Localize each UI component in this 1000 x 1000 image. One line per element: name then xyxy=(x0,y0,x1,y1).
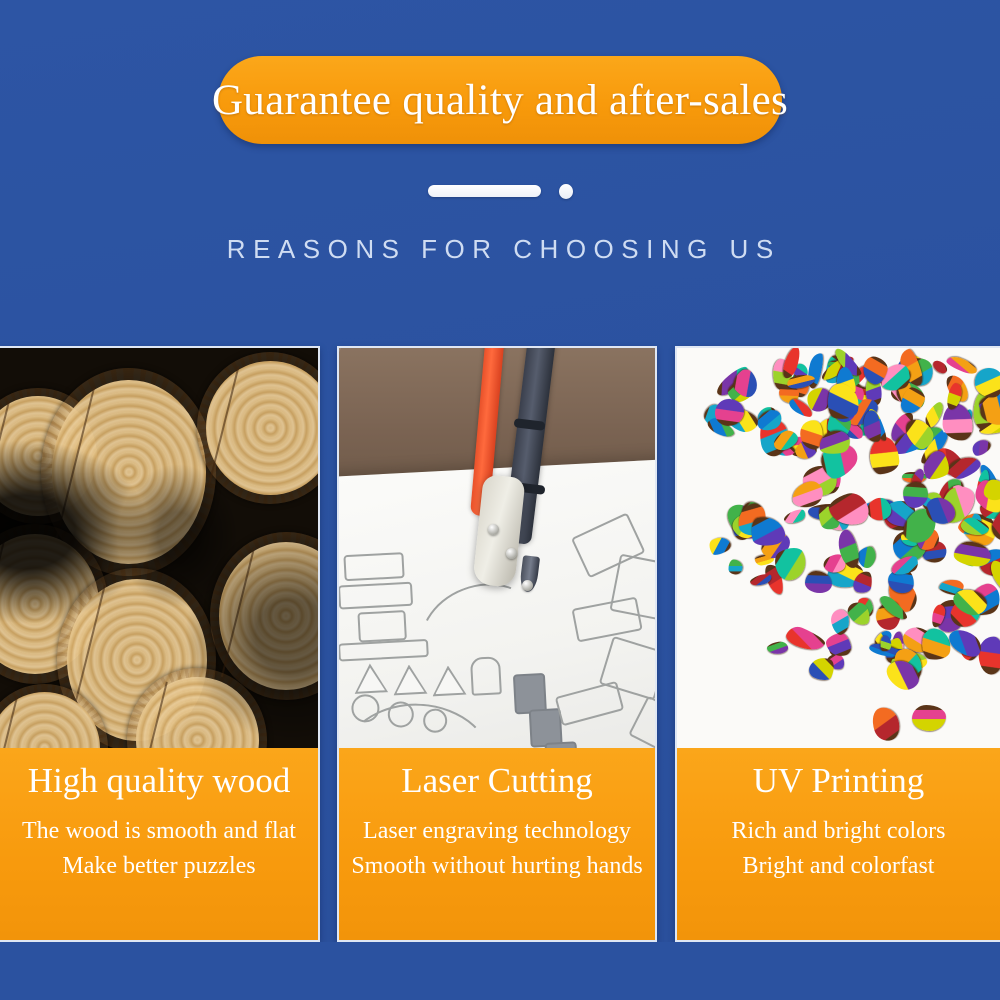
puzzle-piece xyxy=(945,354,979,376)
puzzle-piece xyxy=(728,559,742,574)
promo-banner-page: Guarantee quality and after-sales REASON… xyxy=(0,0,1000,1000)
card-line: Bright and colorfast xyxy=(732,849,946,884)
card-description: Laser engraving technology Smooth withou… xyxy=(351,814,642,884)
card-title: UV Printing xyxy=(753,762,924,800)
card-line: The wood is smooth and flat xyxy=(22,814,296,849)
card-caption: High quality wood The wood is smooth and… xyxy=(0,748,318,940)
card-line: Laser engraving technology xyxy=(351,814,642,849)
card-description: Rich and bright colors Bright and colorf… xyxy=(732,814,946,884)
banner-pill: Guarantee quality and after-sales xyxy=(218,56,782,144)
card-line: Make better puzzles xyxy=(22,849,296,884)
laser-cutting-head-photo xyxy=(339,348,655,748)
decorative-bar-icon xyxy=(428,185,541,197)
card-title: Laser Cutting xyxy=(401,762,593,800)
puzzle-piece xyxy=(869,704,904,744)
feature-card-uv-printing[interactable]: UV Printing Rich and bright colors Brigh… xyxy=(675,346,1000,942)
puzzle-piece xyxy=(784,623,827,656)
decorative-divider xyxy=(0,183,1000,199)
feature-cards-row: High quality wood The wood is smooth and… xyxy=(0,346,1000,942)
puzzle-piece xyxy=(912,705,946,731)
feature-card-high-quality-wood[interactable]: High quality wood The wood is smooth and… xyxy=(0,346,320,942)
stacked-cut-logs-photo xyxy=(0,348,318,748)
card-title: High quality wood xyxy=(28,762,290,800)
card-line: Rich and bright colors xyxy=(732,814,946,849)
card-caption: Laser Cutting Laser engraving technology… xyxy=(339,748,655,940)
colorful-puzzle-pieces-photo xyxy=(677,348,1000,748)
puzzle-piece xyxy=(706,533,733,558)
decorative-dot-icon xyxy=(559,184,573,199)
card-description: The wood is smooth and flat Make better … xyxy=(22,814,296,884)
card-caption: UV Printing Rich and bright colors Brigh… xyxy=(677,748,1000,940)
page-bottom-fill xyxy=(0,942,1000,1000)
puzzle-piece xyxy=(766,640,789,655)
puzzle-piece xyxy=(804,571,831,593)
puzzle-piece xyxy=(977,635,1000,675)
banner-title: Guarantee quality and after-sales xyxy=(212,79,788,122)
puzzle-piece xyxy=(970,436,993,459)
feature-card-laser-cutting[interactable]: Laser Cutting Laser engraving technology… xyxy=(337,346,657,942)
card-line: Smooth without hurting hands xyxy=(351,849,642,884)
puzzle-piece xyxy=(824,631,852,658)
section-subtitle: REASONS FOR CHOOSING US xyxy=(0,234,1000,265)
puzzle-piece xyxy=(782,507,807,528)
